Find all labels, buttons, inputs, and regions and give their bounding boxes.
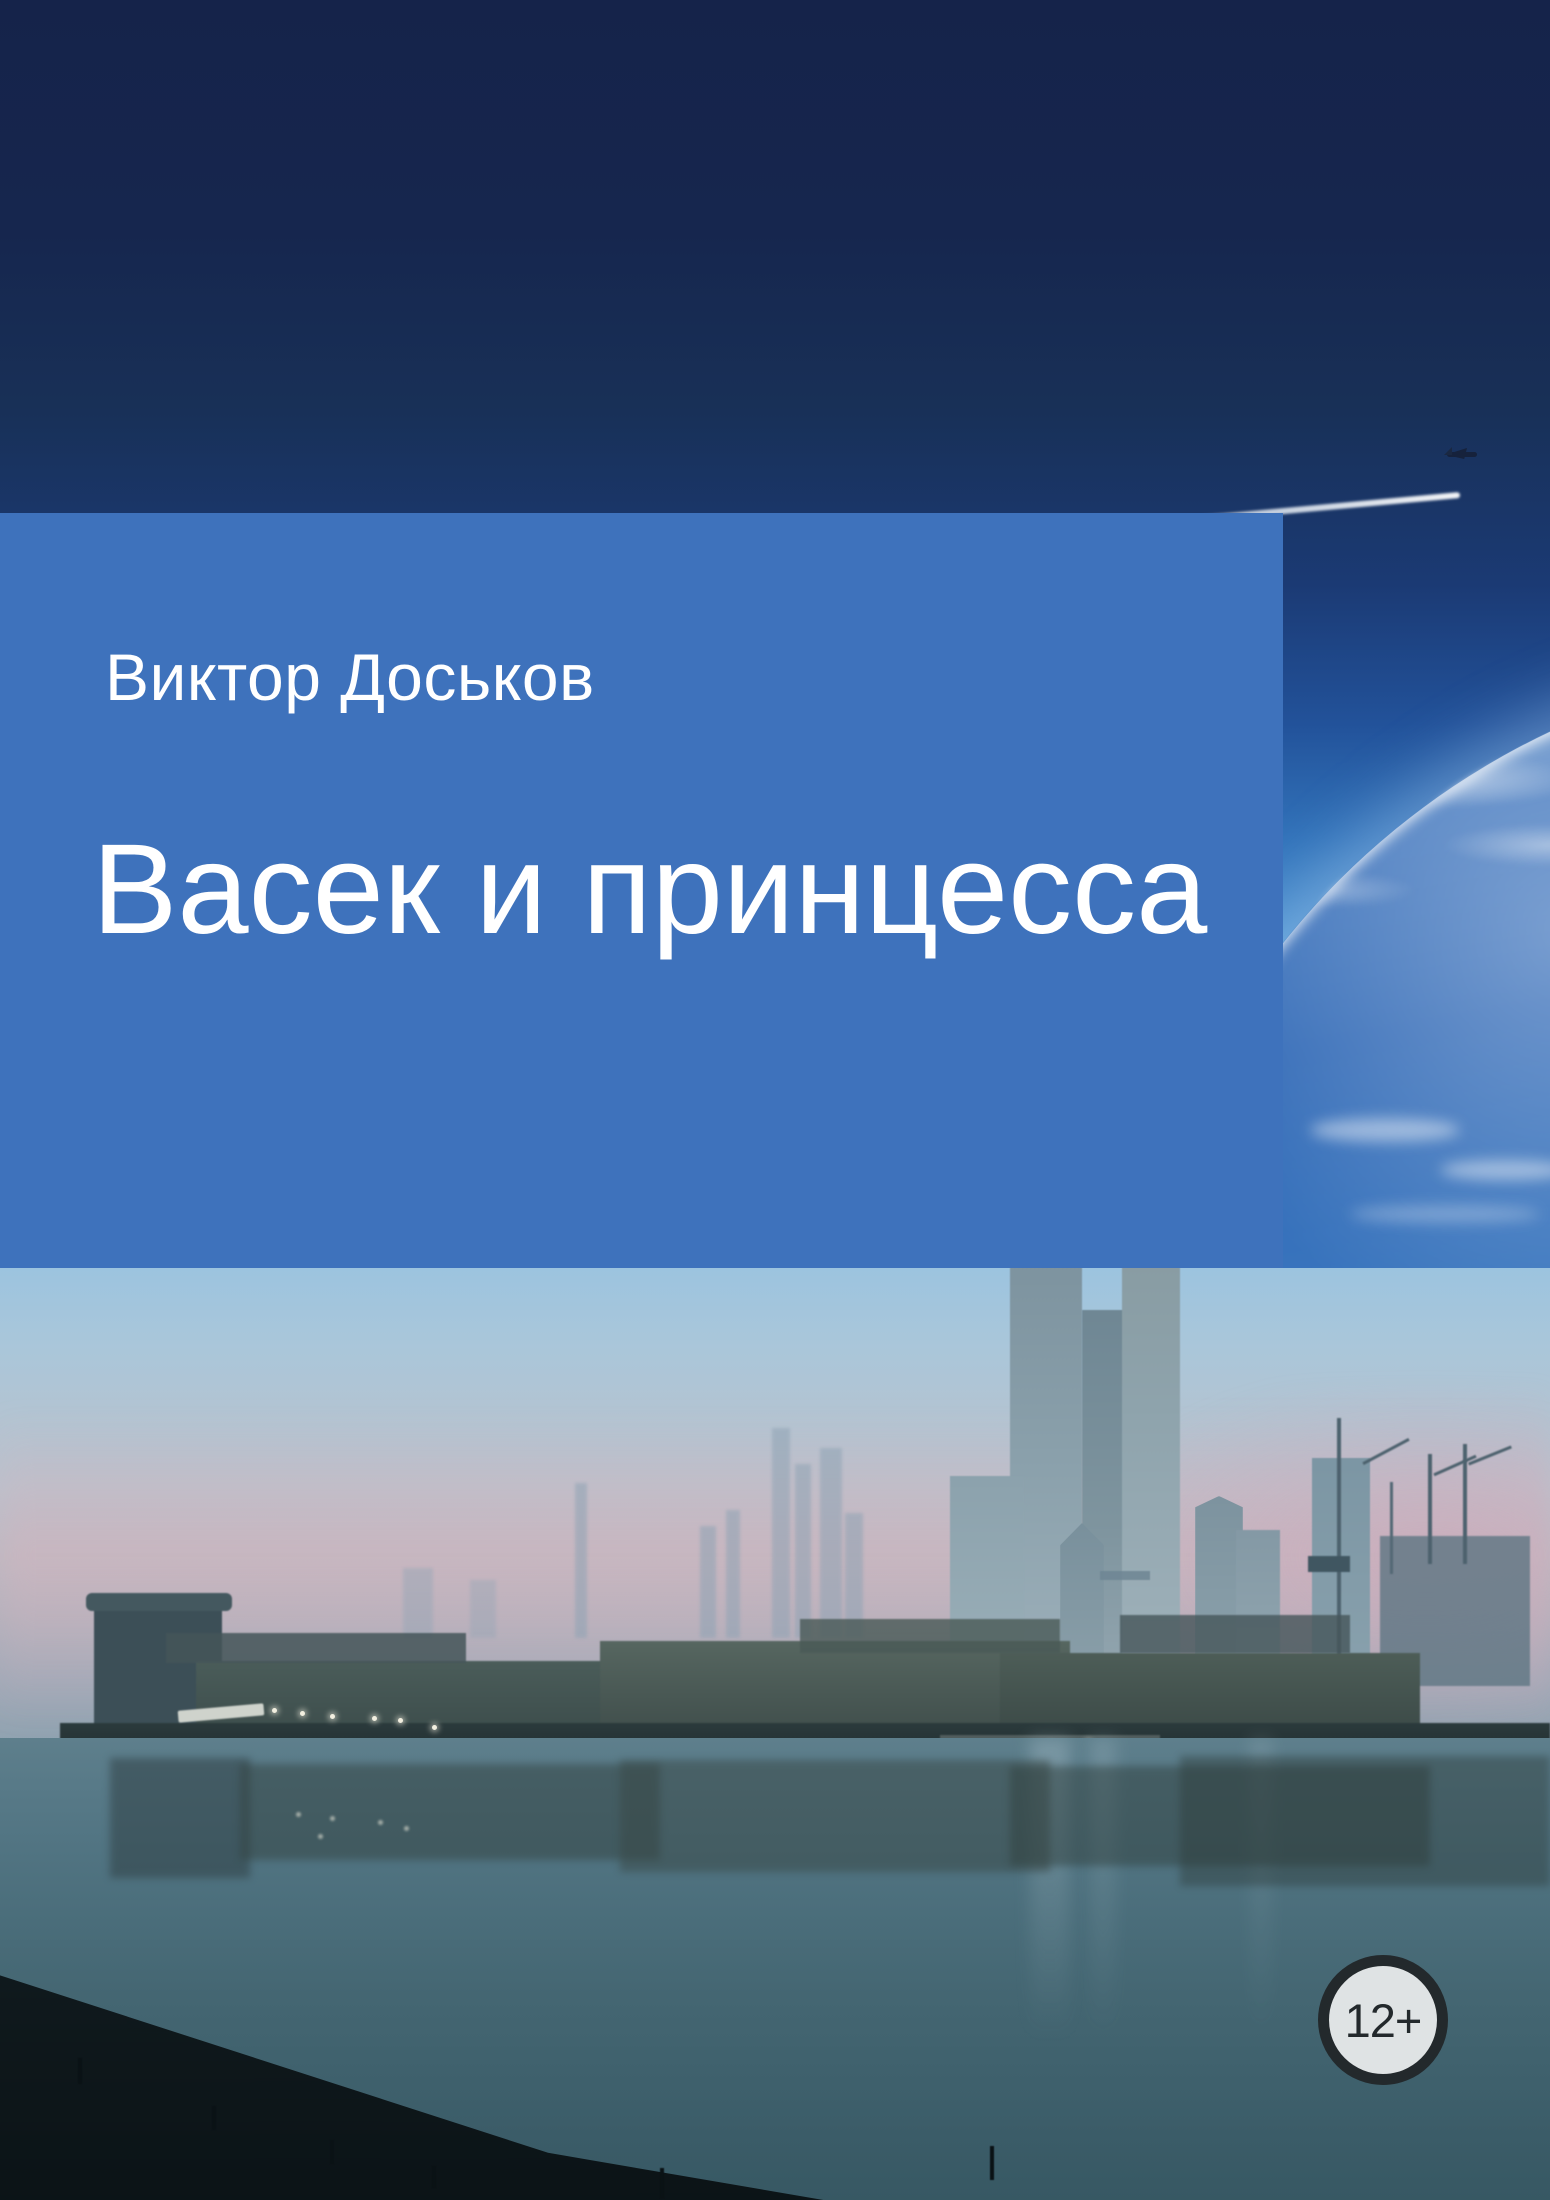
lamp-reflection: [330, 1816, 335, 1821]
distant-tower: [726, 1510, 740, 1638]
embankment-tower-cap: [86, 1593, 232, 1611]
embankment-roofline: [1120, 1615, 1350, 1653]
airplane-icon: [1443, 447, 1477, 460]
water-reflection: [620, 1760, 1050, 1872]
street-lamp: [272, 1708, 277, 1713]
water-reflection: [1180, 1756, 1550, 1886]
street-lamp: [330, 1714, 335, 1719]
bank-post: [990, 2146, 994, 2180]
water-reflection: [110, 1758, 250, 1878]
distant-tower: [700, 1526, 716, 1638]
age-rating-badge: 12+: [1318, 1955, 1448, 2085]
crane-mast: [1390, 1482, 1393, 1574]
bank-post: [432, 2166, 436, 2188]
crane-mast: [1308, 1556, 1350, 1572]
embankment-roofline: [166, 1633, 466, 1663]
bank-post: [330, 2140, 334, 2164]
bank-post: [660, 2168, 664, 2198]
lamp-reflection: [318, 1834, 323, 1839]
book-cover: Виктор Доськов Васек и принцесса 12+: [0, 0, 1550, 2200]
city-scene: [0, 1268, 1550, 2200]
low-cloud: [1310, 1118, 1460, 1142]
author-name: Виктор Доськов: [105, 639, 595, 715]
low-cloud: [1350, 1205, 1540, 1223]
bank-post: [78, 2058, 82, 2084]
lamp-reflection: [404, 1826, 409, 1831]
street-lamp: [372, 1716, 377, 1721]
age-rating-label: 12+: [1345, 1997, 1422, 2044]
street-lamp: [432, 1725, 437, 1730]
crane-mast: [1463, 1444, 1467, 1564]
embankment-roofline: [800, 1619, 1060, 1653]
lamp-reflection: [296, 1812, 301, 1817]
crane-mast: [1428, 1454, 1432, 1564]
sky-bridge: [1100, 1571, 1150, 1580]
distant-tower: [575, 1483, 587, 1638]
water-reflection: [240, 1764, 660, 1860]
bank-post: [212, 2106, 216, 2130]
distant-tower: [795, 1464, 811, 1638]
street-lamp: [398, 1718, 403, 1723]
street-lamp: [300, 1711, 305, 1716]
distant-tower: [772, 1428, 790, 1638]
book-title: Васек и принцесса: [92, 816, 1207, 963]
lamp-reflection: [378, 1820, 383, 1825]
distant-tower: [820, 1448, 842, 1638]
